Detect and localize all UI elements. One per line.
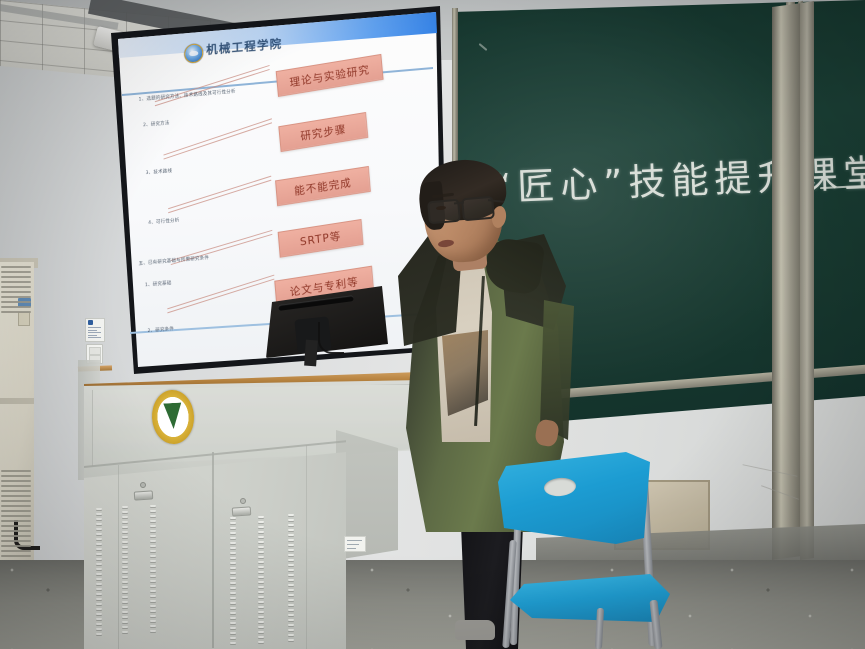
lectern-vent-slot (258, 591, 264, 593)
lectern-vent-slot (96, 593, 102, 595)
slide-box: 理论与实验研究 (276, 54, 384, 97)
ac-vent-slat (1, 495, 31, 497)
lectern-vent-slot (96, 598, 102, 600)
lectern-vent-slot (288, 614, 294, 616)
ac-vent-slat (1, 480, 31, 482)
lectern-vent-slot (258, 626, 264, 628)
notice-text-line (88, 332, 101, 333)
lectern-vent-slot (258, 536, 264, 538)
lectern-vent-slot (230, 522, 236, 524)
lectern-vent-slot (96, 563, 102, 565)
lectern-vent-slot (230, 622, 236, 624)
lectern-vent-slot (150, 595, 156, 597)
slide-bullet: 2、研究方法 (143, 120, 170, 128)
slide-connector-line (167, 275, 274, 310)
lectern-vent-slot (150, 530, 156, 532)
lectern-vent-slot (96, 628, 102, 630)
lectern-vent-slot (230, 592, 236, 594)
lectern-vent-slot (230, 552, 236, 554)
lectern-vent-slot (150, 540, 156, 542)
lectern-vent-slot (96, 633, 102, 635)
ac-vent-slat (1, 296, 31, 298)
lectern-vent-slot (96, 513, 102, 515)
lectern-vent-slot (230, 587, 236, 589)
lectern-vent-slot (230, 582, 236, 584)
slide-connector-line (155, 69, 270, 106)
lectern-vent-slot (150, 545, 156, 547)
light-switch-rocker[interactable] (89, 347, 101, 355)
lectern-vent-slot (150, 605, 156, 607)
ac-vent-slat (1, 505, 31, 507)
slide-bullet: 3、技术路线 (146, 168, 173, 176)
lectern-vent-slot (96, 548, 102, 550)
lectern-vent-slot (288, 584, 294, 586)
lectern-vent-slot (230, 597, 236, 599)
lectern-vent-slot (258, 526, 264, 528)
lectern-door-handle-left[interactable] (134, 490, 154, 500)
lectern-vent-slot (96, 553, 102, 555)
lectern-vent-slot (258, 606, 264, 608)
lectern-vent-slot (288, 534, 294, 536)
equipment-label-line (347, 548, 356, 549)
lectern-vent-slot (150, 590, 156, 592)
lectern-vent-slot (150, 610, 156, 612)
lectern-vent-slot (96, 558, 102, 560)
lectern-vent-slot (96, 538, 102, 540)
lectern-vent-slot (96, 573, 102, 575)
lectern-vent-slot (150, 535, 156, 537)
notice-text-line (88, 327, 101, 328)
ac-vent-slat (1, 470, 31, 472)
notice-text-line (88, 330, 97, 331)
lectern-vent-slot (230, 567, 236, 569)
monitor-arm (304, 340, 318, 367)
lectern-lock-left[interactable] (140, 482, 146, 488)
slide-bullet: 五、已有研究基础与所需研究条件 (139, 255, 209, 267)
ac-vent-slat (1, 271, 31, 273)
lectern-vent-slot (258, 561, 264, 563)
lectern-vent-slot (230, 532, 236, 534)
lectern-vent-slot (288, 629, 294, 631)
equipment-label-line (347, 540, 362, 541)
lectern-lock-right[interactable] (240, 498, 246, 504)
lectern-vent-slot (150, 585, 156, 587)
lectern-vent-slot (150, 525, 156, 527)
lectern-vent-slot (258, 556, 264, 558)
ac-vent-slat (1, 311, 31, 313)
lectern-vent-slot (230, 562, 236, 564)
lectern-vent-slot (258, 611, 264, 613)
ac-vent-slat (1, 530, 31, 532)
lectern-vent-slot (258, 521, 264, 523)
slide-bullet: 1、研究基础 (145, 280, 172, 288)
ac-vent-slat (1, 525, 31, 527)
lectern-vent-slot (288, 539, 294, 541)
lectern-vent-slot (96, 613, 102, 615)
lectern-vent-slot (258, 566, 264, 568)
lectern-vent-slot (230, 537, 236, 539)
lectern-vent-slot (230, 527, 236, 529)
lectern-vent-slot (150, 615, 156, 617)
slide-bullet: 4、可行性分析 (148, 217, 179, 226)
slide-box: 能不能完成 (275, 166, 371, 206)
lectern-vent-slot (288, 524, 294, 526)
lectern-vent-slot (288, 634, 294, 636)
lectern-vent-slot (258, 551, 264, 553)
lectern-vent-slot (288, 594, 294, 596)
lectern-vent-slot (96, 603, 102, 605)
ac-vent-slat (1, 485, 31, 487)
lectern-vent-slot (258, 531, 264, 533)
lectern-vent-slot (258, 641, 264, 643)
ac-vent-slat (1, 276, 31, 278)
lectern-vent-slot (258, 576, 264, 578)
ac-vent-slat (1, 515, 31, 517)
lectern-vent-slot (150, 570, 156, 572)
lectern-vent-slot (150, 505, 156, 507)
slide-box: SRTP等 (278, 219, 364, 258)
lectern-vent-slot (96, 588, 102, 590)
ac-vent-slat (1, 281, 31, 283)
lectern-vent-slot (150, 520, 156, 522)
equipment-label (344, 536, 366, 552)
lectern-vent-slot (230, 612, 236, 614)
slide-connector-line (168, 180, 271, 214)
slide-header-title: 机械工程学院 (206, 35, 282, 57)
lectern-vent-slot (258, 571, 264, 573)
lectern-door-gap (212, 452, 214, 648)
ac-vent-slat (1, 301, 31, 303)
lectern-vent-slot (288, 574, 294, 576)
slide-connector-line (163, 122, 272, 159)
lectern-vent-slot (288, 564, 294, 566)
classroom-photo: 机械工程学院 1、选题的研究方法、技术路线及其可行性分析 2、研究方法 3、技术… (0, 0, 865, 649)
lectern-vent-slot (230, 642, 236, 644)
lectern-vent-slot (96, 618, 102, 620)
lectern-vent-slot (230, 517, 236, 519)
ac-vent-slat (1, 475, 31, 477)
monitor-cable (318, 322, 344, 354)
lectern-vent-slot (288, 599, 294, 601)
lectern-vent-slot (150, 560, 156, 562)
lectern-door-edge-right (306, 445, 307, 649)
lectern-vent-slot (96, 608, 102, 610)
lectern-vent-slot (150, 510, 156, 512)
lectern-vent-slot (96, 508, 102, 510)
slide-bullet: 2、研究条件 (147, 326, 174, 334)
lectern-vent-slot (258, 601, 264, 603)
ac-seam (0, 398, 34, 404)
ac-vent-slat (1, 555, 31, 557)
lectern-vent-slot (258, 631, 264, 633)
slide-connector-line (167, 279, 274, 314)
ac-vent-slat (1, 286, 31, 288)
lectern-vent-slot (288, 624, 294, 626)
lectern-vent-slot (230, 547, 236, 549)
lectern-vent-slot (96, 568, 102, 570)
ac-control-panel-icon[interactable] (18, 312, 30, 326)
ac-vent-slat (1, 535, 31, 537)
lectern-vent-slot (288, 569, 294, 571)
lectern-vent-slot (96, 623, 102, 625)
lectern-vent-slot (258, 516, 264, 518)
ac-vent-slat (1, 540, 31, 542)
lectern-vent-slot (96, 578, 102, 580)
slide-connector-line (168, 176, 271, 210)
lectern-vent-slot (288, 549, 294, 551)
lectern-vent-slot (150, 575, 156, 577)
lectern-vent-slot (96, 523, 102, 525)
lectern-vent-slot (230, 572, 236, 574)
lectern-vent-slot (258, 616, 264, 618)
presenter-shoe (455, 620, 495, 640)
ac-vent-slat (1, 266, 31, 268)
lectern-vent-slot (230, 577, 236, 579)
lectern-vent-slot (150, 565, 156, 567)
lectern-vent-slot (288, 579, 294, 581)
lectern-vent-slot (230, 602, 236, 604)
lectern-vent-slot (150, 555, 156, 557)
lectern-vent-slot (230, 542, 236, 544)
slide-box: 研究步骤 (278, 112, 368, 152)
lectern-door-edge-left (118, 465, 119, 649)
lectern-door-handle-right[interactable] (232, 506, 252, 516)
ac-vent-slat (1, 510, 31, 512)
school-logo-icon (184, 43, 203, 64)
lectern-vent-slot (288, 519, 294, 521)
lectern-vent-slot (288, 544, 294, 546)
lectern-vent-slot (258, 636, 264, 638)
lectern-vent-slot (150, 600, 156, 602)
lectern-vent-slot (288, 589, 294, 591)
ac-vent-slat (1, 500, 31, 502)
lectern-vent-slot (258, 586, 264, 588)
lectern-vent-slot (258, 621, 264, 623)
lectern-vent-slot (150, 625, 156, 627)
lectern-vent-slot (230, 557, 236, 559)
ac-vent-slat (1, 520, 31, 522)
lectern-vent-slot (96, 518, 102, 520)
ac-vent-slat (1, 490, 31, 492)
wall-column-frame-inner (800, 0, 814, 560)
ac-vent-slat (1, 550, 31, 552)
lectern-vent-slot (288, 639, 294, 641)
slide-connector-line (163, 118, 272, 155)
notice-text-line (88, 335, 97, 336)
ac-vent-slat (1, 545, 31, 547)
lectern-vent-slot (288, 554, 294, 556)
lectern-vent-slot (258, 541, 264, 543)
lectern-vent-slot (96, 528, 102, 530)
chair-backrest[interactable] (498, 452, 650, 544)
lectern-vent-slot (230, 607, 236, 609)
lectern-vent-slot (96, 533, 102, 535)
lectern-vent-slot (258, 546, 264, 548)
lectern-vent-slot (288, 529, 294, 531)
lectern-vent-slot (288, 619, 294, 621)
ac-vent-slat (1, 291, 31, 293)
lectern-vent-slot (150, 620, 156, 622)
lectern-vent-slot (258, 581, 264, 583)
lectern-vent-slot (96, 583, 102, 585)
lectern-vent-slot (230, 637, 236, 639)
lectern-vent-slot (150, 515, 156, 517)
lectern-vent-slot (230, 632, 236, 634)
lectern-vent-slot (230, 617, 236, 619)
lectern-vent-slot (150, 580, 156, 582)
lectern-vent-slot (96, 543, 102, 545)
notice-text-line (88, 337, 101, 338)
notice-logo-icon (88, 320, 93, 325)
lectern-vent-slot (150, 630, 156, 632)
equipment-label-line (347, 544, 359, 545)
lectern-vent-slot (230, 627, 236, 629)
lectern-vent-slot (288, 514, 294, 516)
lectern-vent-slot (288, 604, 294, 606)
lectern-vent-slot (258, 596, 264, 598)
wall-column-frame (772, 0, 802, 560)
ac-vent-slat (1, 306, 31, 308)
lectern-vent-slot (288, 559, 294, 561)
lectern-vent-slot (150, 550, 156, 552)
lectern-vent-slot (288, 609, 294, 611)
